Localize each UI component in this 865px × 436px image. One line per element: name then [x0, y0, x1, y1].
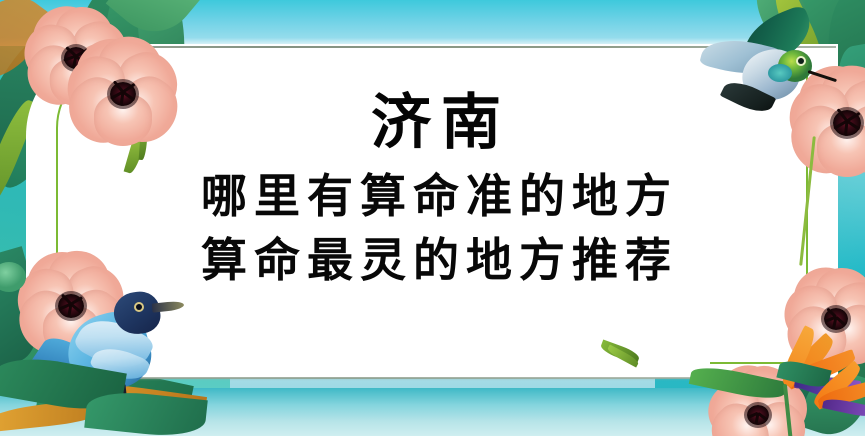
banner-image: 济南 哪里有算命准的地方 算命最灵的地方推荐	[0, 0, 865, 436]
magpie-beak	[152, 300, 185, 312]
green-border-mask-top	[150, 52, 710, 64]
subtitle-line-2: 算命最灵的地方推荐	[194, 228, 678, 292]
subtitle-line-1: 哪里有算命准的地方	[194, 164, 678, 228]
anemone-flower-top-left-secondary	[60, 36, 186, 152]
magpie-eye	[136, 304, 142, 310]
banner-text-block: 济南 哪里有算命准的地方 算命最灵的地方推荐	[96, 64, 776, 364]
hummingbird-throat	[768, 64, 792, 82]
bird-of-paradise-secondary	[812, 350, 865, 436]
page-title: 济南	[361, 90, 511, 156]
hummingbird-top-right	[700, 12, 830, 124]
hummingbird-eye	[798, 58, 804, 64]
